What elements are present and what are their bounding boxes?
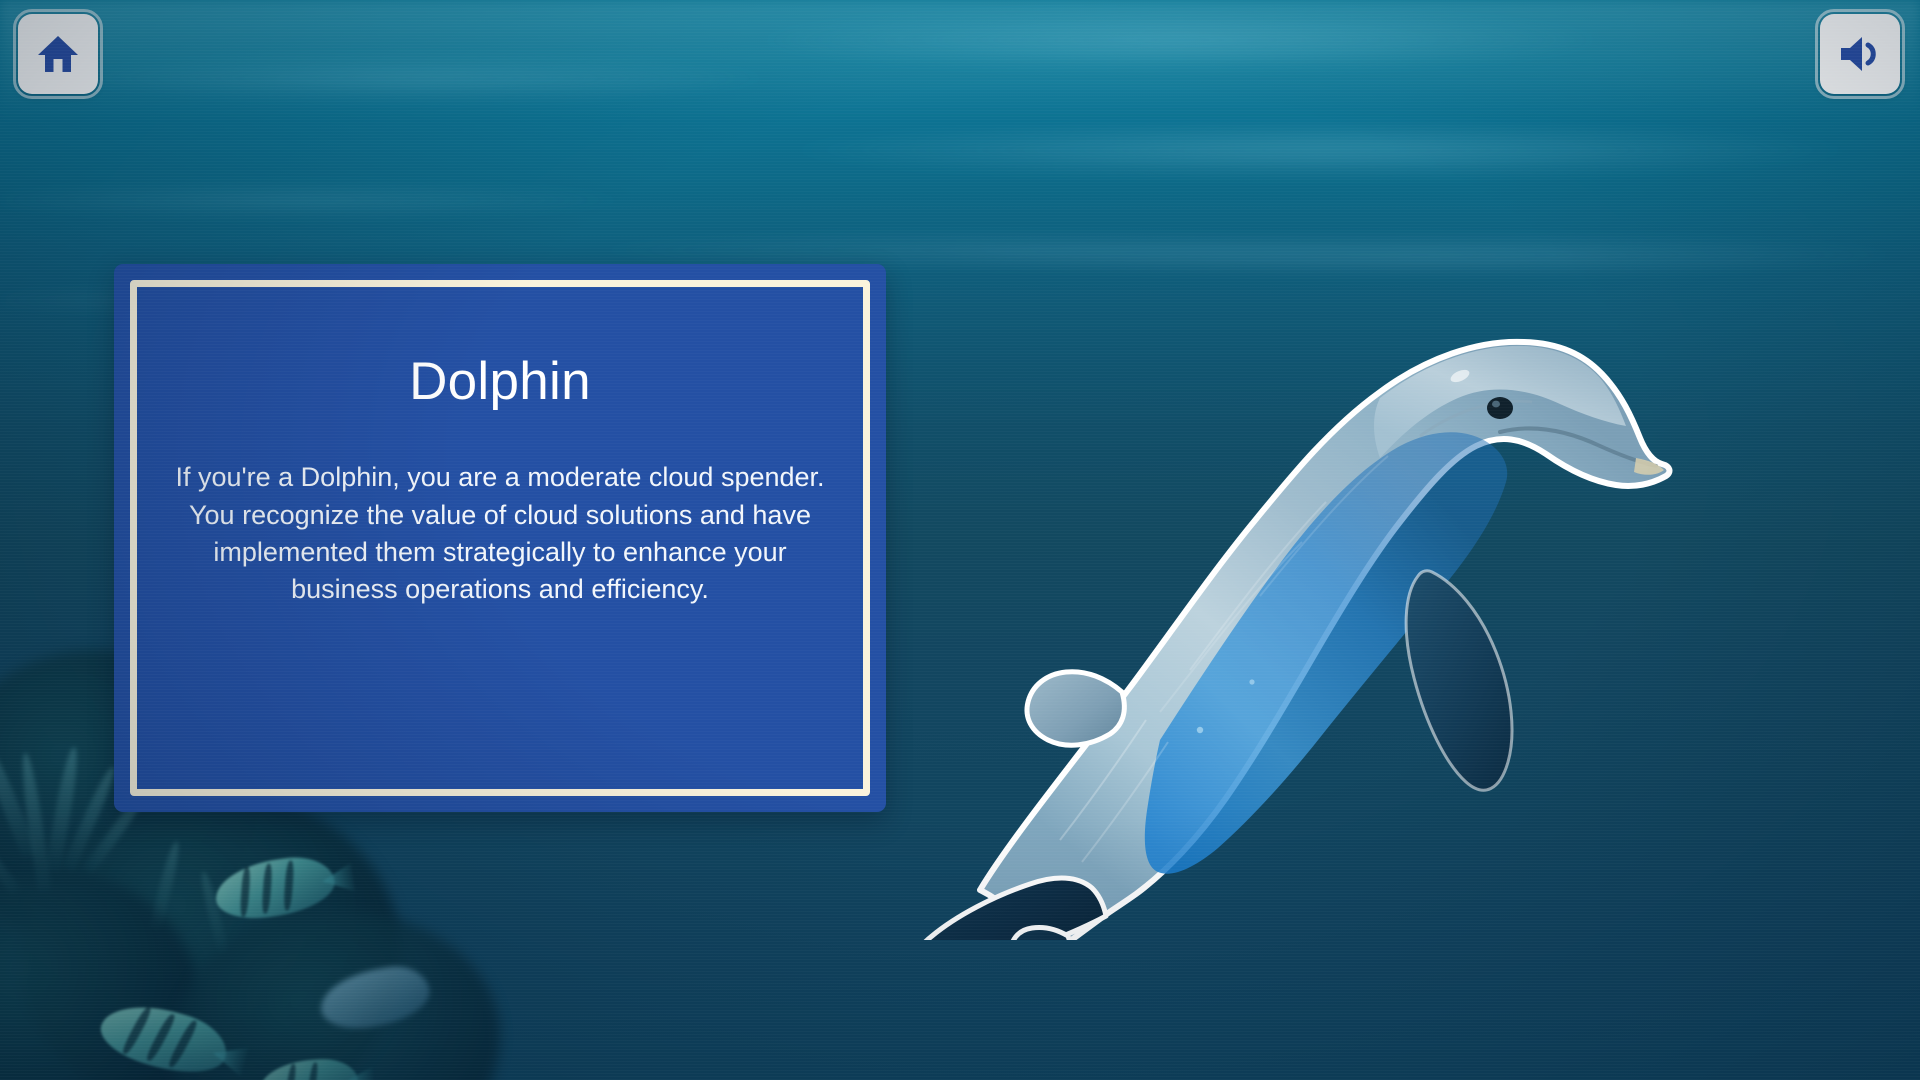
speaker-icon (1838, 35, 1882, 73)
slide-stage: Dolphin If you're a Dolphin, you are a m… (0, 0, 1920, 1080)
home-button[interactable] (18, 14, 98, 94)
card-title: Dolphin (161, 353, 839, 411)
dolphin-illustration (860, 200, 1690, 940)
speaker-button[interactable] (1820, 14, 1900, 94)
result-card: Dolphin If you're a Dolphin, you are a m… (114, 264, 886, 812)
card-description: If you're a Dolphin, you are a moderate … (161, 459, 839, 608)
result-card-inner: Dolphin If you're a Dolphin, you are a m… (130, 280, 870, 796)
home-icon (37, 34, 79, 74)
